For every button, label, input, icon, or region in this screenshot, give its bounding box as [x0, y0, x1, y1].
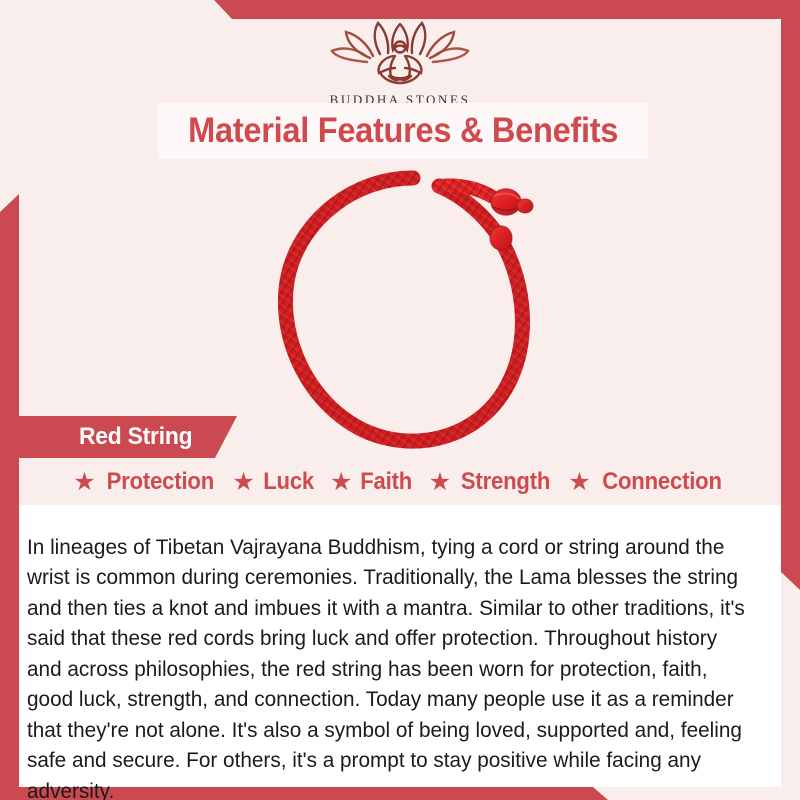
- star-icon: ★: [568, 470, 590, 495]
- star-icon: ★: [330, 470, 352, 495]
- lotus-meditation-icon: [325, 18, 475, 90]
- left-accent-bar: [0, 194, 19, 800]
- benefit-item-luck: ★ Luck: [232, 468, 316, 496]
- benefit-label: Connection: [602, 468, 722, 496]
- benefit-label: Strength: [461, 468, 550, 496]
- brand-logo: BUDDHA STONES: [0, 18, 800, 108]
- star-icon: ★: [429, 470, 451, 495]
- benefit-label: Faith: [361, 468, 413, 496]
- description-paragraph: In lineages of Tibetan Vajrayana Buddhis…: [27, 532, 753, 800]
- material-name-label: Red String: [79, 423, 192, 451]
- star-icon: ★: [232, 470, 254, 495]
- benefit-label: Luck: [263, 468, 314, 496]
- material-name-ribbon: Red String: [19, 416, 237, 458]
- benefits-list: ★ Protection ★ Luck ★ Faith ★ Strength ★…: [0, 468, 800, 496]
- star-icon: ★: [73, 470, 95, 495]
- benefit-item-faith: ★ Faith: [330, 468, 415, 496]
- benefit-item-connection: ★ Connection: [568, 468, 726, 496]
- material-features-poster: BUDDHA STONES Material Features & Benefi…: [0, 0, 800, 800]
- red-string-bracelet-photo: [263, 162, 563, 462]
- benefit-item-protection: ★ Protection: [73, 468, 218, 496]
- page-title: Material Features & Benefits: [188, 111, 618, 151]
- benefit-label: Protection: [106, 468, 213, 496]
- top-accent-bar: [210, 0, 800, 19]
- benefit-item-strength: ★ Strength: [429, 468, 554, 496]
- headline-band: Material Features & Benefits: [158, 103, 648, 159]
